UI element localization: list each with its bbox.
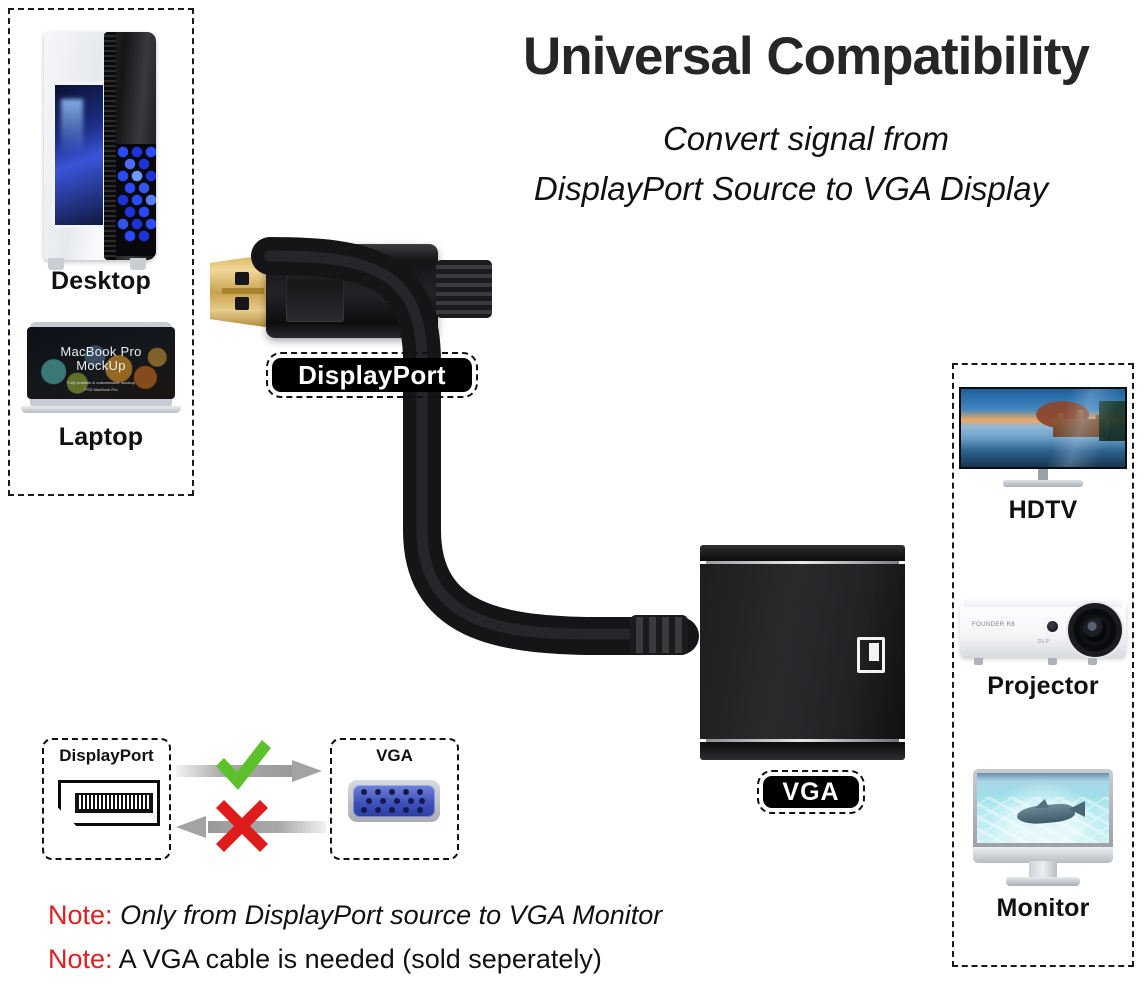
laptop-screen-text-1: MacBook Pro [27,344,175,359]
display-item-label: HDTV [954,496,1132,525]
display-item-label: Monitor [954,894,1132,923]
laptop-screen-text-3: Fully scalable & customizable mockup [27,380,175,385]
diagram-source-title: DisplayPort [44,746,169,766]
adapter-cable [250,230,770,700]
source-item-laptop: MacBook Pro MockUp Fully scalable & cust… [10,322,192,452]
projector-brand-text: FOUNDER R8 [972,622,1015,628]
diagram-target-box: VGA [330,738,459,860]
laptop-screen-text-4: PSD MacBook Pro [27,387,175,392]
subtitle-line-1: Convert signal from [470,120,1142,158]
display-item-hdtv: HDTV [954,387,1132,525]
monitor-icon [968,769,1118,891]
note-keyword: Note: [48,944,113,974]
display-item-monitor: Monitor [954,769,1132,923]
source-item-label: Desktop [10,267,192,296]
note-1: Note: Only from DisplayPort source to VG… [48,900,662,931]
laptop-icon: MacBook Pro MockUp Fully scalable & cust… [21,322,181,420]
source-item-label: Laptop [10,423,192,452]
source-devices-panel: Desktop MacBook Pro MockUp Fully scalabl… [8,8,194,496]
laptop-screen-text-2: MockUp [27,358,175,373]
displayport-connector-icon [58,780,160,826]
diagram-source-box: DisplayPort [42,738,171,860]
green-check-icon [212,738,274,794]
note-text: Only from DisplayPort source to VGA Moni… [120,900,662,930]
hdtv-icon [959,387,1127,493]
projector-icon: FOUNDER R8 DLP [960,595,1126,669]
vga-connector-icon [348,780,440,822]
display-devices-panel: HDTV FOUNDER R8 DLP Projector [952,363,1134,967]
display-item-label: Projector [954,672,1132,701]
desktop-tower-icon [26,24,176,264]
vga-callout-label: VGA [763,776,859,808]
diagram-target-title: VGA [332,746,457,766]
red-x-icon [214,798,270,854]
displayport-callout-label: DisplayPort [272,358,472,392]
note-text: A VGA cable is needed (sold seperately) [119,944,602,974]
source-item-desktop: Desktop [10,24,192,296]
note-keyword: Note: [48,900,113,930]
note-2: Note: A VGA cable is needed (sold sepera… [48,944,602,975]
vga-adapter-photo [700,545,905,760]
projector-lens-text: DLP [1038,639,1050,645]
display-item-projector: FOUNDER R8 DLP Projector [954,595,1132,701]
page-title: Universal Compatibility [470,26,1142,87]
subtitle-line-2: DisplayPort Source to VGA Display [440,170,1142,208]
compatibility-diagram: DisplayPort VGA [42,738,462,858]
